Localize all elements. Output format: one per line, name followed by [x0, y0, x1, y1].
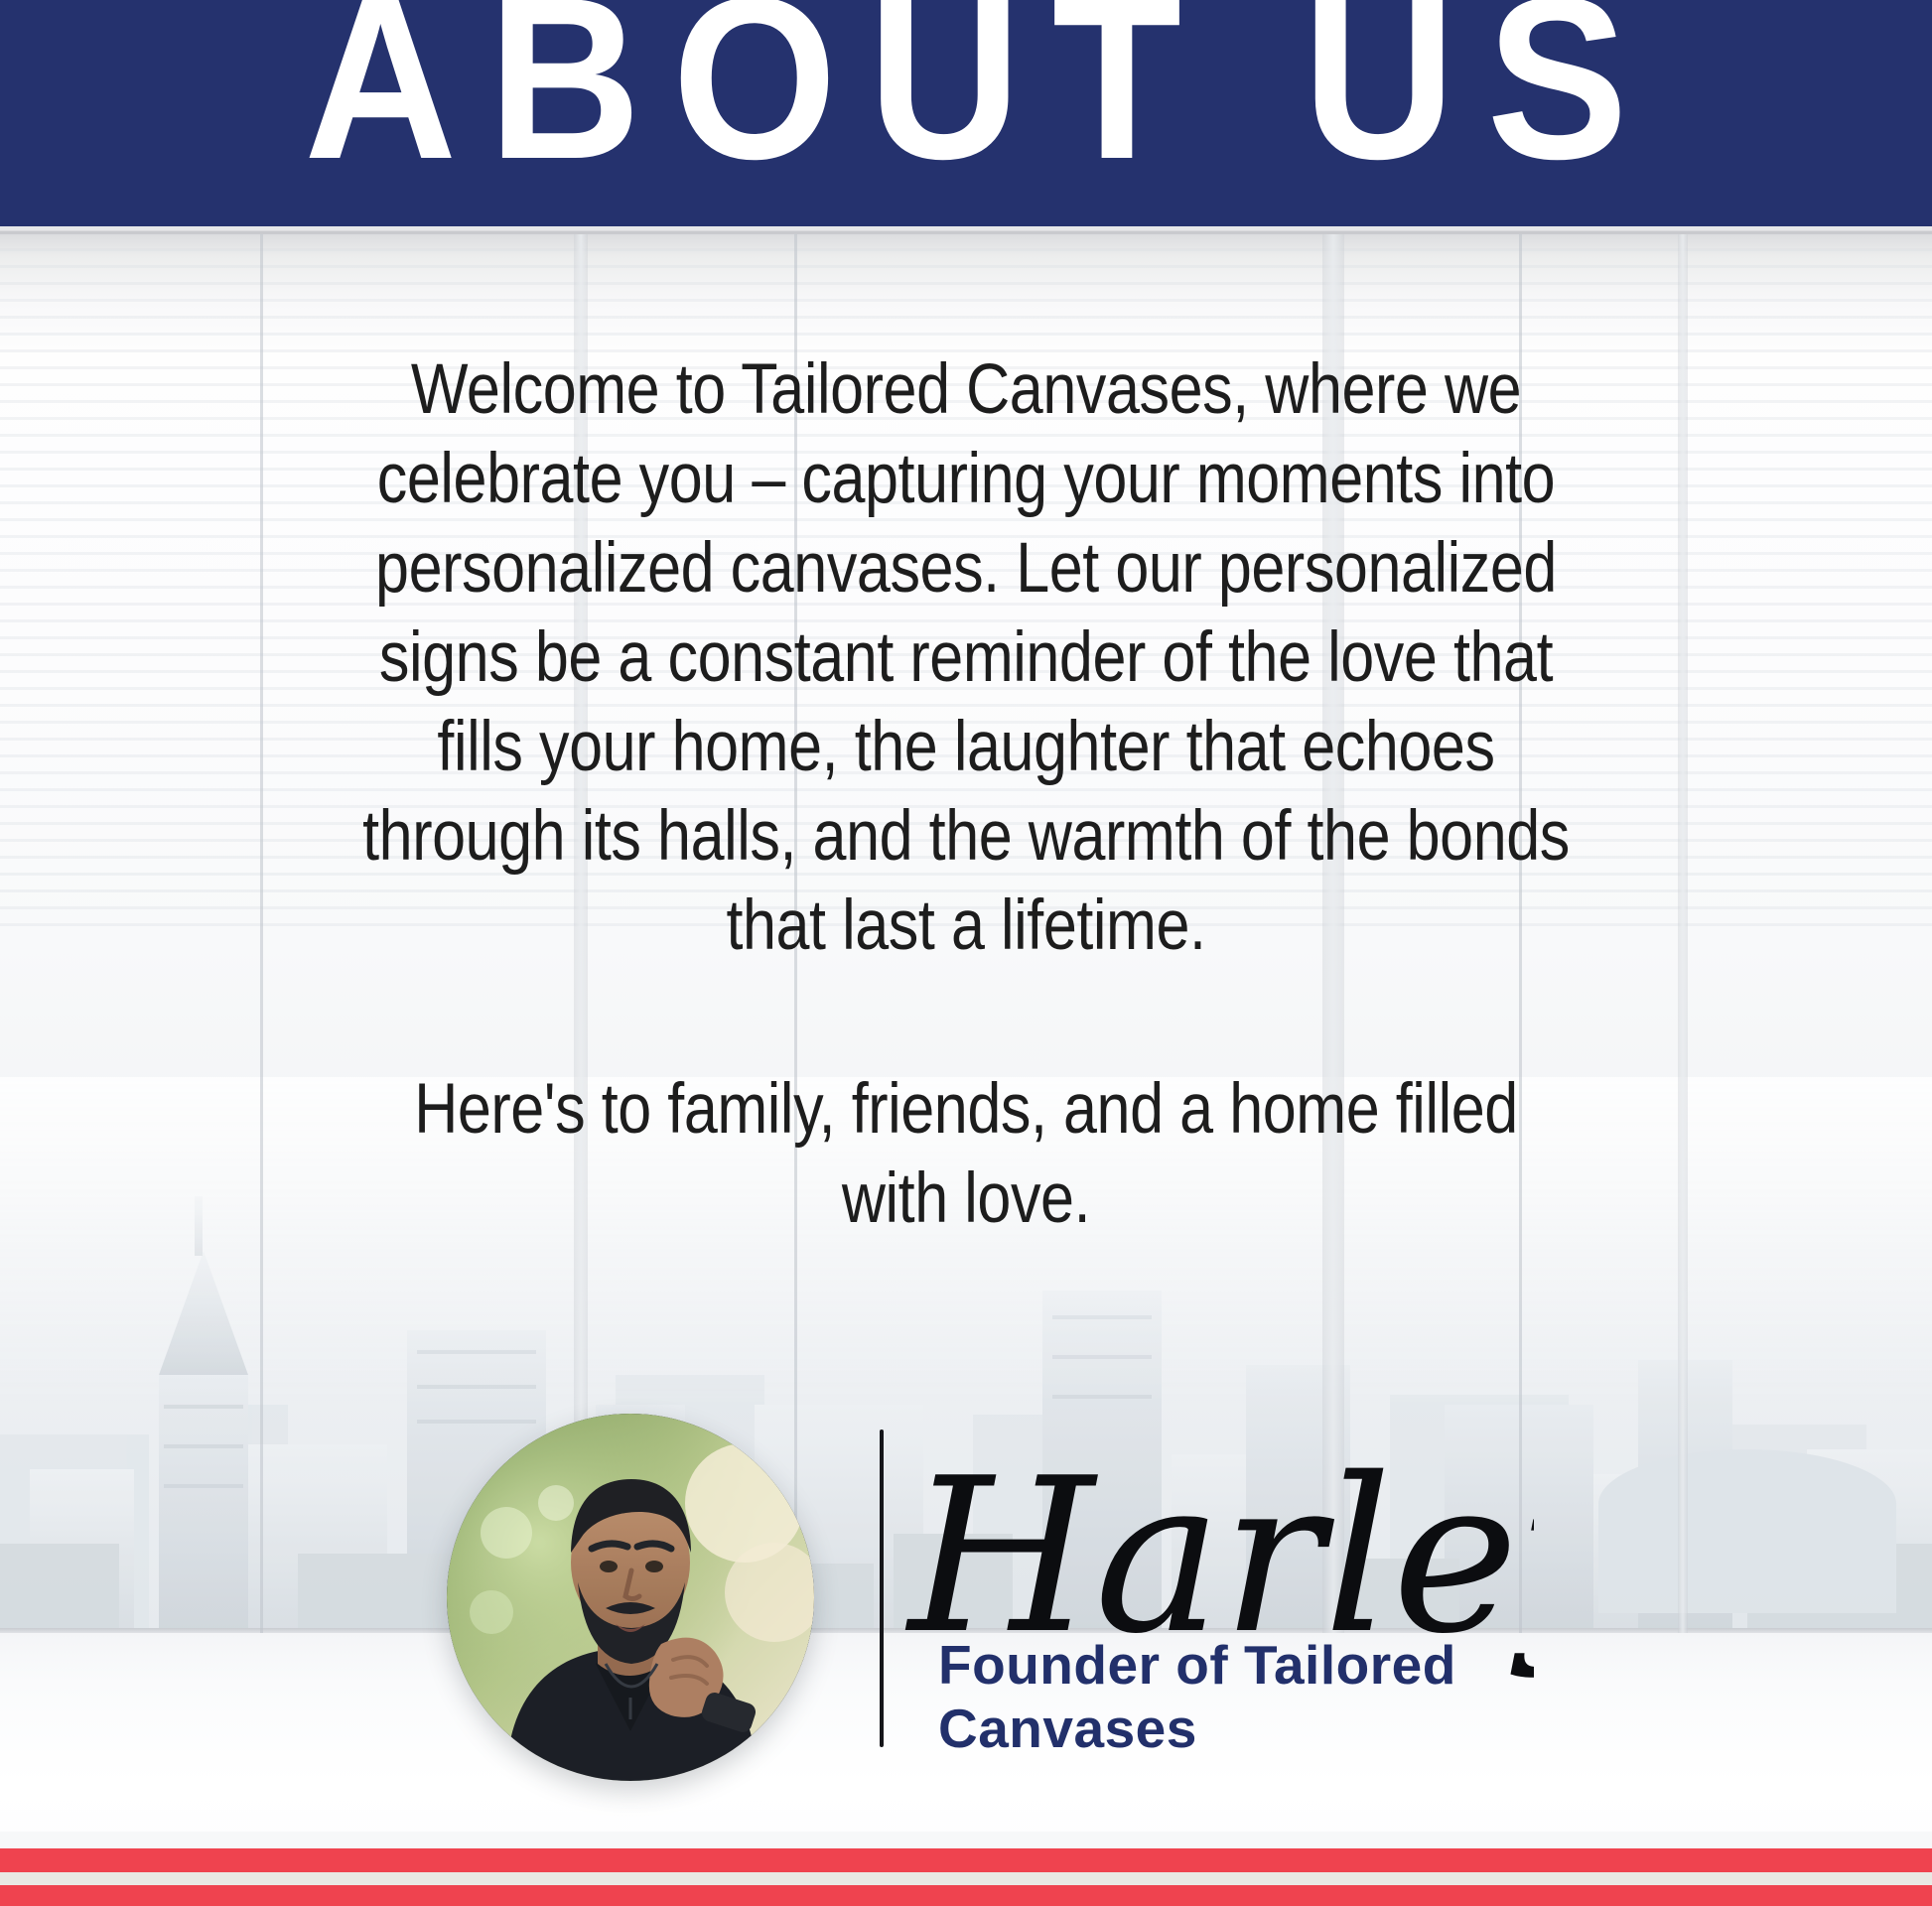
page-title: ABOUT US [77, 0, 1855, 195]
footer-stripe-bottom [0, 1885, 1932, 1906]
founder-role-line-2: Canvases [938, 1697, 1574, 1760]
paragraph-spacer [256, 971, 1676, 1065]
header-bar: ABOUT US [0, 0, 1932, 230]
footer-gap [0, 1832, 1932, 1848]
about-us-copy: Welcome to Tailored Canvases, where we c… [256, 345, 1676, 1244]
paragraph-1: Welcome to Tailored Canvases, where we c… [355, 345, 1577, 971]
avatar [447, 1414, 814, 1781]
founder-role-line-1: Founder of Tailored [938, 1633, 1574, 1697]
footer-stripe-divider [0, 1872, 1932, 1885]
footer-stripe-top [0, 1848, 1932, 1872]
header-underline [0, 226, 1932, 230]
vertical-divider [880, 1429, 884, 1747]
founder-block: Harley Founder of Tailored Canvases [0, 1392, 1932, 1829]
paragraph-2: Here's to family, friends, and a home fi… [355, 1065, 1577, 1244]
founder-role: Founder of Tailored Canvases [938, 1633, 1574, 1760]
about-us-card: ABOUT US Welcome to Tailored Canvases, w… [0, 0, 1932, 1906]
